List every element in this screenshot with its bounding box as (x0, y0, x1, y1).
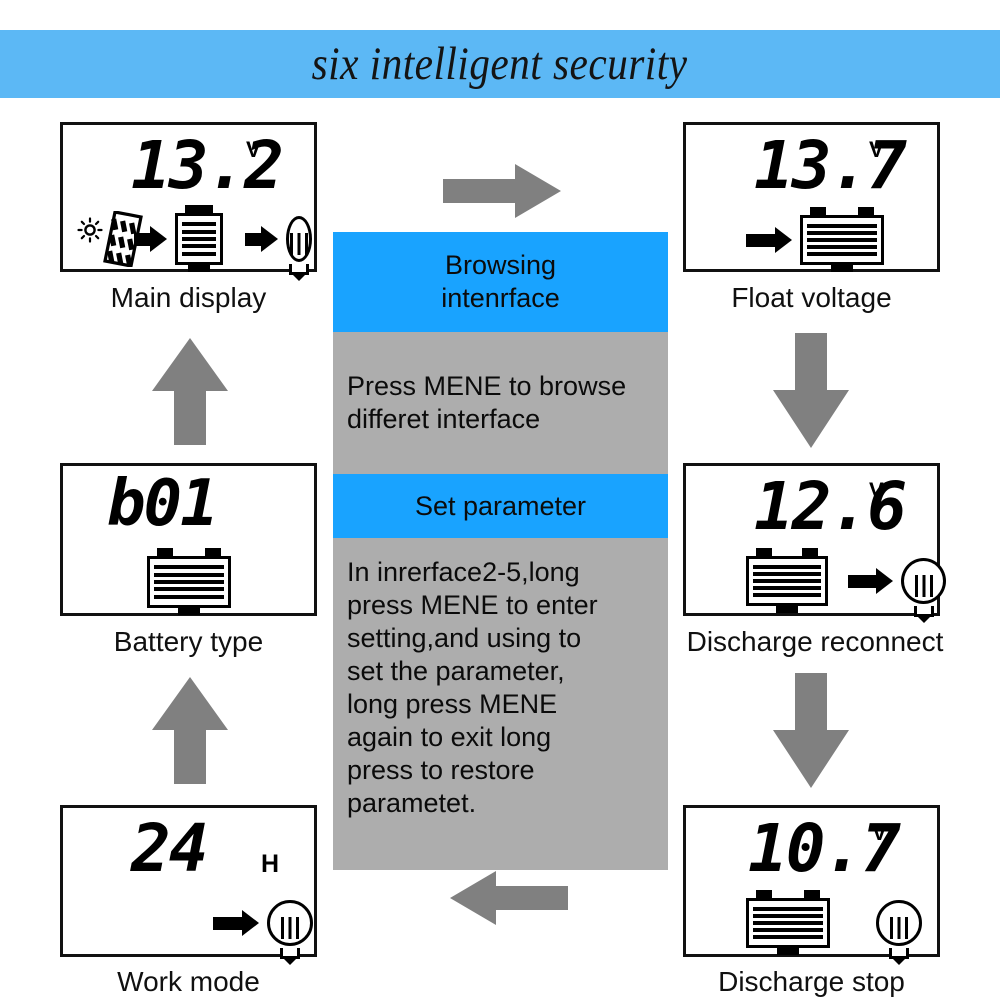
icon-row-float-voltage (746, 213, 896, 267)
battery-body (746, 898, 830, 948)
instruction-band-browsing-interface[interactable]: Browsing intenrface (333, 232, 668, 332)
caption-discharge-reconnect: Discharge reconnect (670, 626, 960, 658)
battery-terminal-right (858, 207, 874, 216)
battery-terminal-right (197, 205, 213, 214)
instruction-band-set-parameter[interactable]: Set parameter (333, 474, 668, 538)
bulb-filament (281, 917, 299, 939)
lcd-unit-work-mode: H (261, 850, 279, 879)
band-line: Browsing (333, 249, 668, 282)
flow-arrow-left-upper (150, 337, 230, 447)
band-line: press MENE to enter (347, 589, 660, 622)
battery-icon (175, 213, 223, 265)
caption-work-mode: Work mode (60, 966, 317, 998)
bulb-base (889, 948, 909, 959)
battery-foot (188, 265, 210, 272)
band-line: parametet. (347, 787, 660, 820)
flow-arrow-left-lower (150, 676, 230, 786)
lcd-value-work-mode: 24 (131, 816, 206, 882)
caption-float-voltage: Float voltage (683, 282, 940, 314)
bulb-icon (876, 900, 922, 946)
flow-arrow-icon-to-battery (746, 234, 776, 247)
icon-row-discharge-reconnect (746, 554, 946, 608)
band-line: again to exit long (347, 721, 660, 754)
lcd-unit-float-voltage: V (869, 137, 884, 163)
lcd-unit-main-display: V (246, 137, 261, 163)
band-line: differet interface (347, 403, 660, 436)
battery-body (175, 213, 223, 265)
battery-body (800, 215, 884, 265)
instruction-panel: Browsing intenrface Press MENE to browse… (333, 232, 668, 870)
bulb-base (280, 948, 300, 959)
icon-row-main-display (77, 210, 312, 268)
bulb-icon (901, 558, 946, 604)
battery-terminal-right (804, 890, 820, 899)
band-line: long press MENE (347, 688, 660, 721)
bulb-filament (290, 233, 308, 255)
flow-arrow-right-lower (771, 672, 851, 790)
lcd-unit-discharge-reconnect: V (869, 478, 884, 504)
bulb-filament (890, 917, 908, 939)
instruction-band-setting-instruction: In inrerface2-5,long press MENE to enter… (333, 538, 668, 870)
bulb-filament (915, 575, 933, 597)
battery-terminal-left (810, 207, 826, 216)
bulb-icon (286, 216, 312, 262)
battery-terminal-left (756, 890, 772, 899)
instruction-band-text: Set parameter (333, 490, 668, 523)
flow-arrow-icon-battery-to-load (848, 575, 877, 588)
band-line: intenrface (333, 282, 668, 315)
lcd-panel-main-display: 13.2 V (60, 122, 317, 272)
battery-icon (746, 556, 828, 606)
battery-terminal-right (205, 548, 221, 557)
battery-terminal-right (802, 548, 818, 557)
lcd-panel-discharge-reconnect: 12.6 V (683, 463, 940, 616)
bulb-base (914, 606, 934, 617)
flow-arrow-icon-to-load (213, 917, 243, 930)
lcd-panel-float-voltage: 13.7 V (683, 122, 940, 272)
page-title: six intelligent security (312, 37, 688, 91)
icon-row-discharge-stop (746, 896, 946, 950)
band-line: set the parameter, (347, 655, 660, 688)
flow-arrow-icon-solar-to-battery (134, 233, 151, 246)
lcd-panel-work-mode: 24 H (60, 805, 317, 957)
icon-row-work-mode (213, 896, 323, 950)
battery-body (147, 556, 231, 608)
band-line: Press MENE to browse (347, 370, 660, 403)
flow-arrow-top-right (443, 163, 563, 219)
caption-main-display: Main display (60, 282, 317, 314)
battery-terminal-left (756, 548, 772, 557)
band-line: press to restore (347, 754, 660, 787)
battery-foot (178, 608, 200, 615)
icon-row-battery-type (147, 554, 237, 610)
instruction-band-browse-instruction: Press MENE to browse differet interface (333, 332, 668, 474)
flow-arrow-bottom-left (448, 870, 568, 926)
infographic-root: six intelligent security 13.2 V (0, 0, 1000, 1000)
flow-arrow-right-upper (771, 332, 851, 450)
lcd-value-battery-type: b01 (107, 472, 217, 536)
battery-terminal-left (157, 548, 173, 557)
caption-battery-type: Battery type (60, 626, 317, 658)
header-banner: six intelligent security (0, 30, 1000, 98)
instruction-band-text: Browsing intenrface (333, 249, 668, 315)
battery-icon (746, 898, 830, 948)
lcd-unit-discharge-stop: V (872, 820, 887, 846)
battery-foot (776, 606, 798, 613)
band-line: In inrerface2-5,long (347, 556, 660, 589)
instruction-band-text: Press MENE to browse differet interface (333, 370, 668, 436)
bulb-base (289, 264, 309, 275)
sun-icon (77, 217, 103, 243)
battery-body (746, 556, 828, 606)
band-line: setting,and using to (347, 622, 660, 655)
battery-icon (800, 215, 884, 265)
solar-panel-icon (77, 213, 112, 265)
bulb-icon (267, 900, 313, 946)
caption-discharge-stop: Discharge stop (683, 966, 940, 998)
instruction-band-text: In inrerface2-5,long press MENE to enter… (333, 556, 668, 820)
battery-foot (777, 948, 799, 955)
battery-foot (831, 265, 853, 272)
flow-arrow-icon-battery-to-load (245, 233, 262, 246)
battery-icon (147, 556, 231, 608)
lcd-panel-discharge-stop: 10.7 V (683, 805, 940, 957)
lcd-panel-battery-type: b01 (60, 463, 317, 616)
band-line: Set parameter (333, 490, 668, 523)
